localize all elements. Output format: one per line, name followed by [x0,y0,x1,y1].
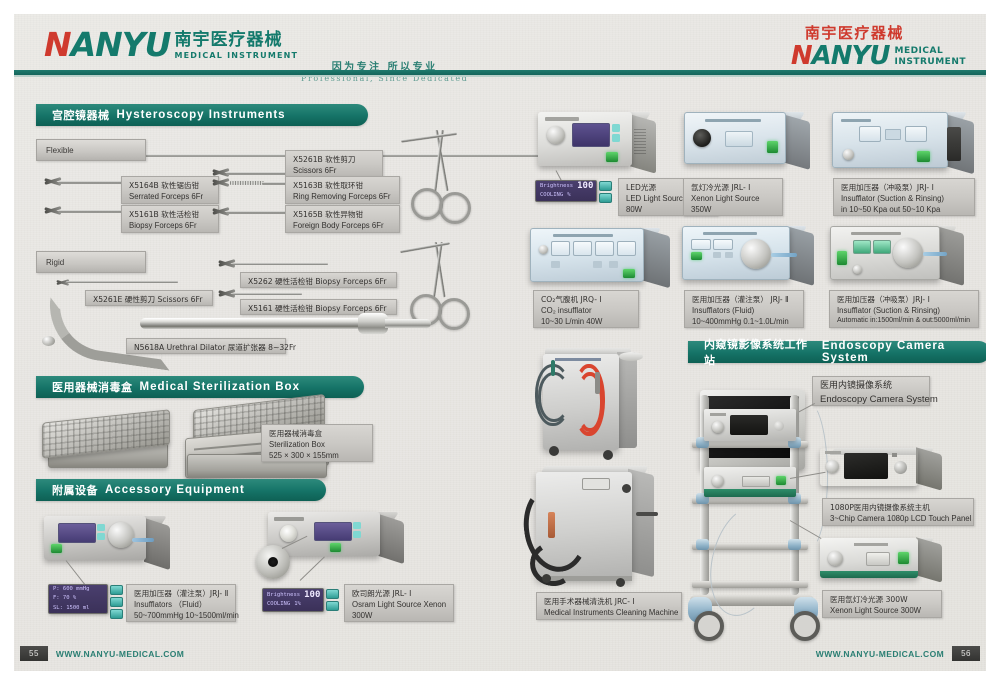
caption-line-1: X5261B 软性剪刀 [293,154,375,165]
device-branding-strip [851,232,901,235]
brand-logo-right: 南宇医疗器械 NANYU MEDICAL INSTRUMENT [791,26,966,69]
device-light-port[interactable] [693,129,711,147]
instrument-shaft [232,263,328,265]
caption-line-1: X5161B 软性活检钳 [129,209,211,220]
caption-ring-removing: X5163B 软性取环钳 Ring Removing Forceps 6Fr [285,176,400,204]
device-power-led [767,141,778,153]
device-power-led [623,269,635,278]
lcd-cooling-value: 1% [294,600,301,609]
device-power-led [837,251,847,265]
section-header-camera-cn: 内窥镜影像系统工作站 [704,336,815,368]
caption-line-2: 3~Chip Camera 1080p LCD Touch Panel [830,513,966,524]
caption-line-3: 50~700mmHg 10~1500ml/min [134,610,228,621]
caption-insufflator-suction-auto: 医用加压器（冲吸泵）JRJ- Ⅰ Insufflator (Suction & … [829,290,979,328]
cart-blue-nozzle [551,360,555,376]
brand-logo-left: NANYU 南宇医疗器械 MEDICAL INSTRUMENT [44,28,298,61]
section-header-accessory: 附属设备 Accessory Equipment [36,479,326,501]
caption-line-1: 欧司朗光源 JRL- Ⅰ [352,588,446,599]
caption-line-2: Insufflator (Suction & Rinsing) [841,193,967,204]
caption-cleaning-machine: 医用手术器械清洗机 JRC- Ⅰ Medical Instruments Cle… [536,592,682,620]
device-camera-1080p [820,448,950,498]
device-touch-panel[interactable] [844,453,888,479]
page-margin-top [0,0,1000,14]
trolley-caster-left [694,611,724,641]
footer-right: WWW.NANYU-MEDICAL.COM 56 [816,646,980,661]
caption-line-1: X5262 硬性活检钳 Biopsy Forceps 6Fr [248,276,389,287]
lcd-button-set[interactable] [110,609,123,619]
cart-caster [603,450,613,460]
caption-foreign-body: X5165B 软性异物钳 Foreign Body Forceps 6Fr [285,205,400,233]
caption-serrated-forceps: X5164B 软性锯齿钳 Serrated Forceps 6Fr [121,176,219,204]
brand-right-rest: ANYU [812,41,890,71]
lcd-callout-buttons-led[interactable] [599,181,612,203]
caption-line-3: 350W [691,204,775,215]
caption-line-2: Ring Removing Forceps 6Fr [293,191,392,202]
caption-line-1: X5163B 软性取环钳 [293,180,392,191]
cabinet-knob[interactable] [622,484,631,493]
device-gas-port[interactable] [539,245,548,254]
caption-camera-1080p: 1080P医用内镜摄像系统主机 3~Chip Camera 1080p LCD … [822,498,974,526]
caption-line-1: 医用加压器（灌注泵） JRJ- Ⅱ [692,294,796,305]
caption-camera-system: 医用内镜摄像系统 Endoscopy Camera System [812,376,930,406]
brand-wordmark: NANYU [44,28,170,61]
caption-line-2: Insufflators （Fluid） [134,599,228,610]
device-branding-strip [553,234,613,237]
brand-right-sub1: MEDICAL [894,46,966,56]
lcd-line-2: F: 70 % [53,594,89,603]
footer-page-number-right: 56 [952,646,980,661]
caption-co2-insufflator: CO₂气腹机 JRQ- Ⅰ CO₂ insufflator 10~30 L/mi… [533,290,639,328]
device-button[interactable] [551,261,560,268]
device-button[interactable] [353,531,361,538]
device-port[interactable] [843,149,854,160]
device-xenon-light-jrl1 [684,112,812,182]
device-knob[interactable] [826,460,839,473]
device-side [640,228,670,289]
cart-basin [619,352,643,361]
caption-insufflator-suction-jrj1: 医用加压器（冲吸泵）JRJ- Ⅰ Insufflator (Suction & … [833,178,975,216]
console-brand [710,413,726,416]
device-side [936,226,964,286]
caption-line-2: Insufflator (Suction & Rinsing) [837,305,971,316]
page-margin-right [986,0,1000,683]
instrument-jaw [212,177,229,188]
group-tag-rigid: Rigid [36,251,146,273]
light-source-port[interactable] [712,475,724,487]
footer-url-left[interactable]: WWW.NANYU-MEDICAL.COM [56,649,184,659]
lcd-button-up[interactable] [326,589,339,599]
caption-sterilization-box: 医用器械消毒盒 Sterilization Box 525 × 300 × 15… [261,424,373,462]
forceps-finger-ring [411,188,443,220]
caption-line-1: N5618A Urethral Dilator 尿道扩张器 8~32Fr [134,342,278,353]
console-knob[interactable] [712,421,724,433]
device-tubing [771,253,797,257]
caption-line-2: Sterilization Box [269,439,365,450]
device-tubing [923,252,947,256]
device-button[interactable] [725,252,733,258]
instrument-shaft [232,293,302,295]
device-insufflator-fluid-jrj2 [44,516,174,578]
brand-chinese-name: 南宇医疗器械 [174,32,298,50]
device-insufflator-fluid-jrj2-right [682,226,830,298]
footer-left: 55 WWW.NANYU-MEDICAL.COM [20,646,184,661]
lcd-callout-insufflator: P: 600 mmHg F: 70 % SL: 1500 ml [48,584,108,614]
lcd-button-up[interactable] [110,585,123,595]
caption-line-1: 医用加压器（灌注泵）JRJ- Ⅱ [134,588,228,599]
device-side [916,537,942,582]
device-port[interactable] [853,265,862,274]
device-power-led [330,543,341,552]
caption-line-1: X5165B 软性异物钳 [293,209,392,220]
device-display-2 [713,239,733,250]
caption-line-1: 医用加压器（冲吸泵）JRJ- Ⅰ [841,182,967,193]
lcd-brightness-value: 100 [577,181,593,191]
device-display-1 [691,239,711,250]
lcd-brightness-value: 100 [304,590,320,600]
caption-line-3: 10~30 L/min 40W [541,316,631,327]
lcd-readout: P: 600 mmHg F: 70 % SL: 1500 ml [53,585,89,613]
device-light-port[interactable] [280,525,297,542]
device-power-led [898,552,909,564]
device-camera-port[interactable] [894,461,907,474]
lcd-callout-led: Brightness 100 COOLING % [535,180,597,202]
device-roller-pump[interactable] [108,522,134,548]
caption-line-2: Endoscopy Camera System [820,393,922,407]
caption-xenon-light-jrl1: 氙灯冷光源 JRL- Ⅰ Xenon Light Source 350W [683,178,783,216]
device-button[interactable] [97,533,105,540]
device-rear-ports [947,127,961,161]
device-roller-pump[interactable] [893,238,923,268]
section-header-accessory-en: Accessory Equipment [105,484,245,496]
instrument-shaft [66,281,178,283]
device-display-2 [873,240,891,254]
dilator-handle [385,319,431,328]
page-header: NANYU 南宇医疗器械 MEDICAL INSTRUMENT 因为专注 所以专… [14,14,986,74]
device-display-1 [853,240,871,254]
device-side [916,447,942,490]
lcd-line-3: SL: 1500 ml [53,604,89,613]
trolley-camera-console [704,409,796,441]
caption-line-2: Scissors 6Fr [293,165,375,176]
device-roller-pump[interactable] [741,239,771,269]
disinfection-cart [535,348,645,463]
section-header-accessory-cn: 附属设备 [52,482,98,498]
cabinet-label [582,478,610,490]
cart-blue-hose [538,372,570,422]
device-display-4 [617,241,636,256]
device-light-port[interactable] [828,551,843,566]
caption-line-1: 医用氙灯冷光源 300W [830,594,934,605]
device-button[interactable] [97,524,105,531]
dilator-tip [42,336,55,346]
caption-line-2: Xenon Light Source [691,193,775,204]
forceps-tip-shaft [401,132,457,143]
caption-line-3: 10~400mmHg 0.1~1.0L/min [692,316,796,327]
device-tubing [132,538,154,542]
light-source-led [776,476,786,485]
lcd-button-down[interactable] [599,193,612,203]
device-power-led [691,252,702,260]
footer-url-right[interactable]: WWW.NANYU-MEDICAL.COM [816,649,944,659]
device-insufflator-suction-auto [830,226,980,298]
device-lcd-screen [58,523,96,543]
caption-insufflator-fluid-jrj2: 医用加压器（灌注泵） JRJ- Ⅱ Insufflators (Fluid) 1… [684,290,804,328]
device-display-1 [859,126,881,142]
light-source-green-stripe [704,489,796,497]
device-display-2 [905,126,927,142]
caption-line-2: Foreign Body Forceps 6Fr [293,220,392,231]
group-tag-flexible: Flexible [36,139,146,161]
caption-line-3: Automatic in:1500ml/min & out:5000ml/min [837,316,971,326]
device-button[interactable] [612,124,620,132]
caption-osram-light: 欧司朗光源 JRL- Ⅰ Osram Light Source Xenon 30… [344,584,454,622]
caption-line-1: 医用内镜摄像系统 [820,380,922,393]
device-vent [634,128,646,154]
device-lcd-screen [572,123,610,147]
lcd-button-down[interactable] [326,601,339,611]
caption-insufflator-fluid-left: 医用加压器（灌注泵）JRJ- Ⅱ Insufflators （Fluid） 50… [126,584,236,622]
device-button[interactable] [713,252,721,258]
lcd-cooling-label: COOLING [540,191,563,200]
device-power-led [606,152,618,162]
caption-line-2: Insufflators (Fluid) [692,305,796,316]
cart-brand [555,358,601,361]
device-button[interactable] [609,261,618,268]
device-front-panel [538,112,632,166]
cleaning-machine-arm [636,512,658,516]
device-button[interactable] [353,522,361,529]
caption-xenon-300w: 医用氙灯冷光源 300W Xenon Light Source 300W [822,590,942,618]
device-front-panel [820,538,918,578]
device-green-stripe [820,571,918,578]
brand-right-sub2: INSTRUMENT [894,57,966,67]
caption-line-3: 300W [352,610,446,621]
lcd-cooling-value: % [567,191,570,200]
group-tag-flexible-label: Flexible [46,146,74,155]
caption-line-1: 医用手术器械清洗机 JRC- Ⅰ [544,596,674,607]
light-guide-adapter [256,545,290,579]
section-header-camera-system: 内窥镜影像系统工作站 Endoscopy Camera System [688,341,990,363]
caption-line-2: Osram Light Source Xenon [352,599,446,610]
device-power-led [51,544,62,553]
dilator-body [140,318,390,329]
lcd-button-up[interactable] [599,181,612,191]
device-front-panel [44,516,146,560]
console-port[interactable] [774,421,784,431]
section-header-hysteroscopy: 宫腔镜器械 Hysteroscopy Instruments [36,104,368,126]
adapter-aperture [268,557,278,567]
forceps-tip-shaft [400,242,450,254]
cabinet-caster [542,574,551,583]
device-front-panel [820,448,918,486]
lcd-callout-buttons[interactable] [110,585,123,619]
device-power-led [917,151,930,162]
caption-line-1: X5164B 软性锯齿钳 [129,180,211,191]
caption-line-1: 氙灯冷光源 JRL- Ⅰ [691,182,775,193]
caption-urethral-dilator: N5618A Urethral Dilator 尿道扩张器 8~32Fr [126,338,286,354]
device-branding-strip [705,119,761,122]
device-front-panel [830,226,940,280]
device-indicator [892,453,897,457]
device-button[interactable] [612,134,620,142]
device-display-1 [551,241,570,256]
device-front-panel [682,226,790,280]
device-display [866,552,890,566]
trolley-caster-right [790,611,820,641]
device-front-panel [684,112,786,164]
caption-line-1: 1080P医用内镜摄像系统主机 [830,502,966,513]
lcd-cooling-label: COOLING [267,600,290,609]
dilator-curve [43,297,178,370]
device-intensity-knob[interactable] [547,126,565,144]
lcd-brightness-label: Brightness [540,182,573,191]
device-brand [825,451,841,454]
trolley-light-source [704,467,796,497]
device-display-2 [573,241,592,256]
header-rule-light [14,75,986,77]
lcd-line-1: P: 600 mmHg [53,585,89,594]
caption-biopsy-flexible: X5161B 软性活检钳 Biopsy Forceps 6Fr [121,205,219,233]
device-side [378,514,404,564]
lcd-callout-buttons-osram[interactable] [326,589,339,611]
device-xenon-300w [820,538,950,590]
caption-line-2: Medical Instruments Cleaning Machine [544,607,674,618]
forceps-finger-ring [438,298,470,330]
light-source-display [742,476,770,487]
caption-line-1: CO₂气腹机 JRQ- Ⅰ [541,294,631,305]
caption-line-2: Biopsy Forceps 6Fr [129,220,211,231]
device-cleaning-machine [528,466,668,594]
device-side [782,114,810,170]
section-header-sterilization-en: Medical Sterilization Box [140,381,300,393]
caption-scissors-flexible: X5261B 软性剪刀 Scissors 6Fr [285,150,383,178]
device-button[interactable] [593,261,602,268]
brand-wordmark-n: N [44,25,71,64]
group-tag-rigid-label: Rigid [46,258,64,267]
caption-line-3: in 10~50 Kpa out 50~10 Kpa [841,204,967,215]
device-front-panel [832,112,948,168]
dilator-collar [358,313,388,334]
brand-right-n: N [791,41,812,71]
device-branding-strip [274,517,304,521]
sterilization-box-closed [42,412,172,474]
device-control-pad[interactable] [885,129,901,140]
caption-rigid-biopsy-5262: X5262 硬性活检钳 Biopsy Forceps 6Fr [240,272,397,288]
caption-line-1: 医用器械消毒盒 [269,428,365,439]
catalog-page: NANYU 南宇医疗器械 MEDICAL INSTRUMENT 因为专注 所以专… [0,0,1000,683]
cabinet-caster [616,578,625,587]
device-insufflator-suction-jrj1 [832,112,982,184]
instrument-large-forceps-upper [395,130,505,240]
page-margin-left [0,0,14,683]
lcd-callout-osram: Brightness 100 COOLING 1% [262,588,324,612]
footer-page-number-left: 55 [20,646,48,661]
caption-line-2: Xenon Light Source 300W [830,605,934,616]
device-brand [854,543,888,546]
section-header-camera-en: Endoscopy Camera System [822,340,990,364]
caption-line-2: CO₂ insufflator [541,305,631,316]
device-display-3 [595,241,614,256]
section-header-hysteroscopy-cn: 宫腔镜器械 [52,107,110,123]
brand-wordmark-rest: ANYU [71,25,171,64]
device-front-panel [530,228,644,282]
brand-right-wordmark: NANYU [791,43,890,69]
device-control-pad[interactable] [725,131,753,147]
caption-line-1: 医用加压器（冲吸泵）JRJ- Ⅰ [837,294,971,305]
brand-right-chinese: 南宇医疗器械 [805,26,966,41]
page-margin-bottom [0,671,1000,683]
device-branding-strip [841,119,871,122]
device-side [144,518,170,570]
instrument-coil [230,181,264,185]
device-branding-strip [545,117,579,121]
cart-caster [549,446,559,456]
section-header-sterilization-cn: 医用器械消毒盒 [52,379,133,395]
lcd-brightness-label: Brightness [267,591,300,600]
cart-spray-gun [595,372,600,394]
cart-side [617,352,637,448]
forceps-finger-ring [439,192,471,224]
device-lcd-screen [314,522,352,541]
section-header-hysteroscopy-en: Hysteroscopy Instruments [117,109,286,121]
lcd-button-down[interactable] [110,597,123,607]
device-branding-strip [703,232,757,235]
caption-line-2: Serrated Forceps 6Fr [129,191,211,202]
trolley-clamp [696,539,709,550]
console-screen [730,415,768,435]
caption-line-3: 525 × 300 × 155mm [269,450,365,461]
